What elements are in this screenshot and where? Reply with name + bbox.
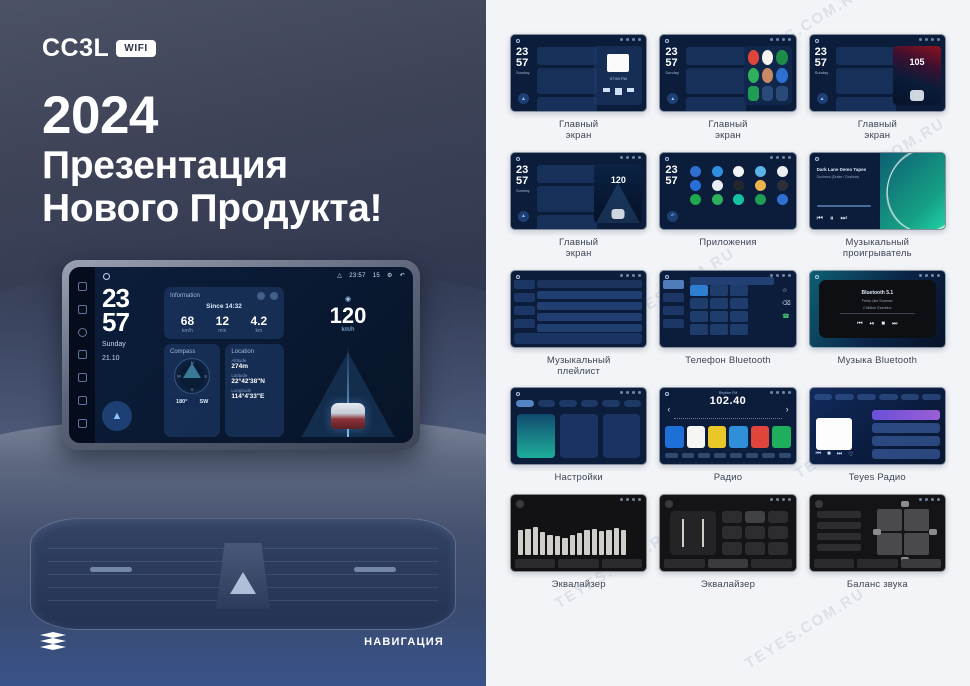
thumbnail-equalizer-fader[interactable] xyxy=(659,494,796,572)
stop-icon[interactable]: ■ xyxy=(827,451,831,458)
bt-track-title: Feels Like Summer xyxy=(862,299,893,303)
since-label: Since 14:32 xyxy=(170,303,278,310)
clock-column: 23 57 Sunday 21.10 ▲ xyxy=(102,287,158,437)
gallery-item[interactable]: 23 57 Sunday ▲ 07:50 FM xyxy=(510,34,647,142)
thumbnail-home-drive[interactable]: 23 57 Sunday ▲ 105 xyxy=(809,34,946,112)
balance-preset-right[interactable] xyxy=(817,544,861,551)
speed-unit: km/h xyxy=(341,327,354,333)
hazard-triangle-icon xyxy=(230,572,256,594)
tune-up-icon[interactable]: › xyxy=(786,404,789,414)
compass-readout: 180° SW xyxy=(170,397,214,407)
station-presets[interactable] xyxy=(665,426,790,448)
tab-all[interactable] xyxy=(814,394,833,400)
app-icon-gps[interactable] xyxy=(690,166,701,177)
gallery-caption: Эквалайзер xyxy=(552,579,606,590)
stat-speed: 68 km/h xyxy=(181,314,194,334)
compass-direction: SW xyxy=(199,399,208,405)
sidebar-item-search[interactable] xyxy=(663,306,684,315)
gallery-item[interactable]: Эквалайзер xyxy=(510,494,647,590)
dial-key-9[interactable] xyxy=(730,311,748,322)
mini-clock-min: 57 xyxy=(665,177,677,187)
sidebar-item-history[interactable] xyxy=(663,319,684,328)
list-item[interactable] xyxy=(872,423,940,433)
thumbnail-apps[interactable]: 23 57 ↶ xyxy=(659,152,796,230)
phone-sidebar[interactable] xyxy=(663,280,684,332)
mini-clock-min: 57 xyxy=(516,59,528,69)
preset-4[interactable] xyxy=(729,426,747,448)
location-card[interactable]: Location Altitude 274m Latitude 22°42'38… xyxy=(225,344,284,437)
next-icon[interactable]: ⏭ xyxy=(840,215,846,223)
bt-progress-bar[interactable] xyxy=(840,313,915,314)
info-column: Information Since 14:32 68 km/h xyxy=(164,287,284,437)
information-title: Information xyxy=(170,293,200,299)
tab-balance[interactable] xyxy=(602,559,642,568)
information-card[interactable]: Information Since 14:32 68 km/h xyxy=(164,287,284,339)
previous-icon[interactable]: ⏮ xyxy=(816,451,821,458)
home-indicator-icon xyxy=(665,275,669,279)
track-list[interactable] xyxy=(537,280,642,331)
app-icon-chrome[interactable] xyxy=(690,180,701,191)
preset-pad[interactable] xyxy=(768,511,788,524)
gallery-grid: 23 57 Sunday ▲ 07:50 FM xyxy=(510,34,946,590)
stat-distance-value: 4.2 xyxy=(251,314,268,328)
balance-preset-left[interactable] xyxy=(817,533,861,540)
trip-stats: 68 km/h 12 min 4.2 xyxy=(170,314,278,334)
balance-up-button[interactable] xyxy=(901,501,909,507)
next-icon[interactable]: ⏭ xyxy=(892,321,897,328)
car-figure-icon xyxy=(331,403,365,429)
gallery-caption: Приложения xyxy=(699,237,757,248)
settings-card-more[interactable] xyxy=(603,414,641,458)
mini-media-panel: 07:50 FM xyxy=(594,46,642,105)
app-icon-contact[interactable] xyxy=(712,180,723,191)
station-list[interactable] xyxy=(872,410,940,462)
mini-nav-button[interactable]: ▲ xyxy=(817,93,828,104)
mini-drive-speed: 105 xyxy=(893,57,941,67)
equalizer-tabs[interactable] xyxy=(814,559,941,568)
speed-icon: ◉ xyxy=(345,295,351,303)
balance-preset-rear[interactable] xyxy=(817,522,861,529)
preset-pad[interactable] xyxy=(768,526,788,539)
gallery-caption: Главныйэкран xyxy=(559,119,598,142)
status-time: 23:57 xyxy=(349,273,366,279)
toolbar-settings[interactable] xyxy=(779,453,791,458)
phone-number-field[interactable] xyxy=(690,277,773,285)
app-icon-file-manager[interactable] xyxy=(755,180,766,191)
sidebar-item-contacts[interactable] xyxy=(663,293,684,302)
mini-clock-min: 57 xyxy=(516,177,528,187)
list-item[interactable] xyxy=(537,324,642,332)
tab-fader[interactable] xyxy=(857,559,897,568)
home-indicator-icon xyxy=(665,157,669,161)
progress-bar[interactable] xyxy=(817,205,871,207)
gallery-caption: Эквалайзер xyxy=(701,579,755,590)
gallery-item[interactable]: Dark Lane Demo Tapes Duchess (Drake / Dr… xyxy=(809,152,946,260)
tab-genre[interactable] xyxy=(857,394,876,400)
tab-search[interactable] xyxy=(922,394,941,400)
latitude-row: Latitude 22°42'38"N xyxy=(231,373,278,385)
tab-eq[interactable] xyxy=(664,559,704,568)
stat-speed-value: 68 xyxy=(181,314,194,328)
hazard-button[interactable] xyxy=(216,543,270,609)
stat-time-unit: min xyxy=(216,328,229,334)
rail-icon-power[interactable] xyxy=(78,328,87,337)
mini-nav-button[interactable]: ▲ xyxy=(667,93,678,104)
toolbar-eq[interactable] xyxy=(714,453,726,458)
gallery-item[interactable]: ⏮ ■ ⏭ ♡ Teyes Радио xyxy=(809,387,946,483)
next-icon[interactable]: ⏭ xyxy=(837,451,842,458)
backspace-icon[interactable]: ⌫ xyxy=(782,300,790,307)
preset-pad[interactable] xyxy=(745,526,765,539)
thumbnail-bluetooth-music[interactable]: Bluetooth 5.1 Feels Like Summer Childish… xyxy=(809,270,946,348)
mini-player-bar[interactable] xyxy=(514,333,642,344)
gallery-item[interactable]: 23 57 Sunday ▲ 105 Главныйэкран xyxy=(809,34,946,142)
list-item[interactable] xyxy=(537,280,642,288)
gear-icon[interactable]: ⚙ xyxy=(387,272,393,279)
tab-eq[interactable] xyxy=(814,559,854,568)
music-visualizer xyxy=(880,153,945,229)
thumbnail-sound-balance[interactable] xyxy=(809,494,946,572)
settings-card-wlan[interactable] xyxy=(517,414,555,458)
toolbar-loc[interactable] xyxy=(746,453,758,458)
dial-key-2[interactable] xyxy=(710,285,728,296)
tab-sound[interactable] xyxy=(538,400,556,407)
bluetooth-version: Bluetooth 5.1 xyxy=(861,290,893,296)
sidebar-item-folders[interactable] xyxy=(514,319,535,328)
preset-pad-grid[interactable] xyxy=(722,511,788,555)
compass-s: S xyxy=(191,387,194,392)
longitude-value: 114°4'33"E xyxy=(231,393,278,400)
preset-pad[interactable] xyxy=(745,542,765,555)
clock-minutes: 57 xyxy=(102,311,158,335)
expand-icon[interactable] xyxy=(270,292,278,300)
home-indicator-icon xyxy=(516,392,520,396)
speaker-rear-left[interactable] xyxy=(877,533,902,555)
preset-1[interactable] xyxy=(665,426,683,448)
gallery-caption: Главныйэкран xyxy=(858,119,897,142)
home-indicator-icon[interactable] xyxy=(103,273,110,280)
toolbar-af[interactable] xyxy=(762,453,774,458)
title-line-1: Презентация xyxy=(42,144,382,188)
dial-key-star[interactable] xyxy=(690,324,708,335)
mini-back-button[interactable]: ↶ xyxy=(667,211,678,222)
preset-pad[interactable] xyxy=(722,542,742,555)
call-icon[interactable]: ☎ xyxy=(782,313,790,320)
app-icon-bluetooth[interactable] xyxy=(712,166,723,177)
rail-icon-volume-down[interactable] xyxy=(78,396,87,405)
tab-history[interactable] xyxy=(901,394,920,400)
list-item[interactable] xyxy=(872,410,940,420)
list-item[interactable] xyxy=(537,313,642,321)
radio-frequency: 102.40 xyxy=(660,395,795,407)
compass-e: E xyxy=(205,374,208,379)
longitude-row: Longitude 114°4'33"E xyxy=(231,388,278,400)
balance-preset-icon[interactable] xyxy=(815,500,823,508)
home-indicator-icon xyxy=(516,275,520,279)
balance-preset-front[interactable] xyxy=(817,511,861,518)
gallery-caption: Teyes Радио xyxy=(849,472,906,483)
app-icon-dvr[interactable] xyxy=(733,180,744,191)
preset-5[interactable] xyxy=(751,426,769,448)
title-year: 2024 xyxy=(42,88,382,144)
preset-pad[interactable] xyxy=(768,542,788,555)
screen-content: △ 23:57 15 ⚙ ↶ 23 57 Sunday 21.10 xyxy=(95,267,413,443)
gallery-item[interactable]: 23 57 Sunday ▲ xyxy=(659,34,796,142)
altitude-value: 274m xyxy=(231,363,278,370)
app-icon-radio[interactable] xyxy=(777,194,788,205)
mini-app-drawer xyxy=(744,46,792,105)
screenshot-gallery: TEYES.COM.RU TEYES.COM.RU TEYES.COM.RU T… xyxy=(486,0,970,686)
tab-personal[interactable] xyxy=(602,400,620,407)
rail-icon-back[interactable] xyxy=(78,373,87,382)
dial-key-5[interactable] xyxy=(710,298,728,309)
app-icon-gallery[interactable] xyxy=(777,180,788,191)
navigation-label: НАВИГАЦИЯ xyxy=(364,636,444,648)
thumbnail-settings[interactable] xyxy=(510,387,647,465)
clock-day: Sunday xyxy=(102,340,158,349)
playlist-sidebar[interactable] xyxy=(514,280,535,332)
thumbnail-home-speed[interactable]: 23 57 Sunday ▲ 120 xyxy=(510,152,647,230)
tab-common[interactable] xyxy=(559,400,577,407)
home-indicator-icon xyxy=(815,275,819,279)
rail-icon-prev[interactable] xyxy=(78,282,87,291)
teyes-transport[interactable]: ⏮ ■ ⏭ ♡ xyxy=(816,451,854,458)
preset-6[interactable] xyxy=(772,426,790,448)
gallery-item[interactable]: Эквалайзер xyxy=(659,494,796,590)
location-title: Location xyxy=(231,349,254,355)
hero-panel: CC3L WIFI 2024 Презентация Нового Продук… xyxy=(0,0,486,686)
speaker-front-left[interactable] xyxy=(877,509,902,531)
stat-time: 12 min xyxy=(216,314,229,334)
dial-key-hash[interactable] xyxy=(730,324,748,335)
equalizer-tabs[interactable] xyxy=(664,559,791,568)
app-icon-google[interactable] xyxy=(690,194,701,205)
dial-key-1[interactable] xyxy=(690,285,708,296)
favorite-icon[interactable]: ☆ xyxy=(782,287,790,294)
settings-tabs[interactable] xyxy=(516,400,641,407)
rail-icon-next[interactable] xyxy=(78,305,87,314)
transport-controls[interactable]: ⏮ ⏸ ⏭ xyxy=(817,215,847,223)
list-item[interactable] xyxy=(872,449,940,459)
gallery-caption: Музыка Bluetooth xyxy=(838,355,918,366)
preset-2[interactable] xyxy=(687,426,705,448)
tab-country[interactable] xyxy=(879,394,898,400)
mini-speed-panel: 120 xyxy=(594,164,642,223)
bluetooth-card: Bluetooth 5.1 Feels Like Summer Childish… xyxy=(819,280,936,338)
thumbnail-music-player[interactable]: Dark Lane Demo Tapes Duchess (Drake / Dr… xyxy=(809,152,946,230)
watermark: TEYES.COM.RU xyxy=(742,585,868,673)
home-indicator-icon xyxy=(665,39,669,43)
equalizer-tabs[interactable] xyxy=(515,559,642,568)
tab-fader[interactable] xyxy=(708,559,748,568)
compass-n: N xyxy=(191,360,194,365)
list-item[interactable] xyxy=(872,436,940,446)
eq-preset-icon[interactable] xyxy=(516,500,524,508)
thumbnail-equalizer-bars[interactable] xyxy=(510,494,647,572)
speed-value: 120 xyxy=(330,305,367,327)
app-icon-bluetooth-music[interactable] xyxy=(733,166,744,177)
compass-degrees: 180° xyxy=(176,399,187,405)
dial-key-6[interactable] xyxy=(730,298,748,309)
screen-side-rail[interactable] xyxy=(69,267,95,443)
gallery-item[interactable]: Баланс звука xyxy=(809,494,946,590)
dial-key-3[interactable] xyxy=(730,285,748,296)
stop-icon[interactable]: ■ xyxy=(881,321,885,328)
wifi-badge: WIFI xyxy=(116,40,156,57)
tab-balance[interactable] xyxy=(751,559,791,568)
thumbnail-teyes-radio[interactable]: ⏮ ■ ⏭ ♡ xyxy=(809,387,946,465)
balance-left-button[interactable] xyxy=(873,529,881,535)
tab-wlan[interactable] xyxy=(516,400,534,407)
head-unit-screen[interactable]: △ 23:57 15 ⚙ ↶ 23 57 Sunday 21.10 xyxy=(69,267,413,443)
preset-pad[interactable] xyxy=(722,526,742,539)
eq-preset-icon[interactable] xyxy=(665,500,673,508)
speaker-rear-right[interactable] xyxy=(904,533,929,555)
mini-day: Sunday xyxy=(665,70,679,75)
app-icon-play-store[interactable] xyxy=(755,194,766,205)
mini-nav-button[interactable]: ▲ xyxy=(518,93,529,104)
sidebar-item-artists[interactable] xyxy=(514,293,535,302)
now-playing-title: Dark Lane Demo Tapes xyxy=(817,167,866,172)
mini-nav-button[interactable]: ▲ xyxy=(518,211,529,222)
latitude-value: 22°42'38"N xyxy=(231,378,278,385)
thumbnail-playlist[interactable] xyxy=(510,270,647,348)
station-artwork xyxy=(816,418,852,450)
fader-sliders[interactable] xyxy=(670,511,716,555)
status-bar: △ 23:57 15 ⚙ ↶ xyxy=(337,272,405,279)
compass-card[interactable]: Compass N S E W xyxy=(164,344,220,437)
list-item[interactable] xyxy=(537,291,642,299)
gallery-caption: Радио xyxy=(714,472,742,483)
frequency-scale[interactable] xyxy=(674,418,781,422)
app-icon-maps[interactable] xyxy=(712,194,723,205)
rail-icon-home[interactable] xyxy=(78,350,87,359)
thumbnail-home-media[interactable]: 23 57 Sunday ▲ 07:50 FM xyxy=(510,34,647,112)
stat-distance: 4.2 km xyxy=(251,314,268,334)
gallery-item[interactable]: 23 57 Sunday ▲ 120 Главныйэкран xyxy=(510,152,647,260)
previous-icon[interactable]: ⏮ xyxy=(857,321,862,328)
bt-transport-controls[interactable]: ⏮ ⏯ ■ ⏭ xyxy=(857,321,897,328)
preset-pad[interactable] xyxy=(745,511,765,524)
gallery-caption: Главныйэкран xyxy=(559,237,598,260)
gallery-item[interactable]: Bluetooth 5.1 Feels Like Summer Childish… xyxy=(809,270,946,378)
stat-distance-unit: km xyxy=(251,328,268,334)
speaker-front-right[interactable] xyxy=(904,509,929,531)
logo-wordmark: CC3L xyxy=(42,34,109,63)
now-playing-artist: Duchess (Drake / Drakkar) xyxy=(817,175,860,179)
tab-favorites[interactable] xyxy=(835,394,854,400)
app-icon-calculator[interactable] xyxy=(755,166,766,177)
toolbar-rds[interactable] xyxy=(730,453,742,458)
app-icon-camera[interactable] xyxy=(777,166,788,177)
home-indicator-icon xyxy=(815,157,819,161)
list-item[interactable] xyxy=(537,302,642,310)
gallery-caption: Главныйэкран xyxy=(708,119,747,142)
mini-clock-min: 57 xyxy=(815,59,827,69)
bt-track-artist: Childish Gambino xyxy=(863,306,891,310)
compass-needle xyxy=(183,363,201,378)
previous-icon[interactable]: ⏮ xyxy=(817,215,823,223)
rail-icon-volume-up[interactable] xyxy=(78,419,87,428)
vent-control-right xyxy=(354,567,396,572)
thumbnail-radio[interactable]: Rhythm FM 102.40 ‹ › xyxy=(659,387,796,465)
tab-balance[interactable] xyxy=(901,559,941,568)
toolbar-search[interactable] xyxy=(682,453,694,458)
refresh-icon[interactable] xyxy=(257,292,265,300)
gallery-item[interactable]: ☆ ⌫ ☎ Телефон Bluetooth xyxy=(659,270,796,378)
product-logo: CC3L WIFI xyxy=(42,34,156,63)
play-pause-icon[interactable]: ⏯ xyxy=(870,321,875,328)
back-icon[interactable]: ↶ xyxy=(400,272,405,279)
mini-clock-min: 57 xyxy=(665,59,677,69)
sidebar-item-albums[interactable] xyxy=(514,306,535,315)
layers-icon xyxy=(40,632,66,652)
favorite-icon[interactable]: ♡ xyxy=(848,451,853,458)
radio-toolbar[interactable] xyxy=(665,453,790,461)
app-icon-music-player[interactable] xyxy=(733,194,744,205)
gallery-item[interactable]: 23 57 ↶ xyxy=(659,152,796,260)
head-unit-bezel: △ 23:57 15 ⚙ ↶ 23 57 Sunday 21.10 xyxy=(62,260,420,450)
toolbar-list[interactable] xyxy=(698,453,710,458)
dial-key-4[interactable] xyxy=(690,298,708,309)
tab-fader[interactable] xyxy=(558,559,598,568)
gallery-item[interactable]: Rhythm FM 102.40 ‹ › xyxy=(659,387,796,483)
vent-control-left xyxy=(90,567,132,572)
teyes-tabs[interactable] xyxy=(814,394,941,400)
tab-system[interactable] xyxy=(624,400,642,407)
title-line-2: Нового Продукта! xyxy=(42,187,382,231)
stat-speed-unit: km/h xyxy=(181,328,194,334)
balance-presets[interactable] xyxy=(817,511,861,555)
dial-key-0[interactable] xyxy=(710,324,728,335)
mini-day: Sunday xyxy=(516,188,530,193)
tune-down-icon[interactable]: ‹ xyxy=(667,404,670,414)
gallery-caption: Баланс звука xyxy=(847,579,908,590)
dial-key-7[interactable] xyxy=(690,311,708,322)
gallery-item[interactable]: Музыкальныйплейлист xyxy=(510,270,647,378)
tab-eq[interactable] xyxy=(515,559,555,568)
sidebar-item-dialpad[interactable] xyxy=(663,280,684,289)
thumbnail-home-apps[interactable]: 23 57 Sunday ▲ xyxy=(659,34,796,112)
mini-day: Sunday xyxy=(516,70,530,75)
settings-cards[interactable] xyxy=(517,414,640,458)
compass-title: Compass xyxy=(170,349,195,355)
gallery-item[interactable]: Настройки xyxy=(510,387,647,483)
dial-key-8[interactable] xyxy=(710,311,728,322)
preset-pad[interactable] xyxy=(722,511,742,524)
balance-pad[interactable] xyxy=(877,509,929,555)
app-icon-grid[interactable] xyxy=(686,164,791,224)
pause-icon[interactable]: ⏸ xyxy=(830,215,834,223)
balance-right-button[interactable] xyxy=(929,529,937,535)
thumbnail-bluetooth-phone[interactable]: ☆ ⌫ ☎ xyxy=(659,270,796,348)
drive-view-widget[interactable]: ◉ 120 km/h xyxy=(290,287,406,437)
navigation-button[interactable]: ▲ xyxy=(102,401,132,431)
gallery-caption: Настройки xyxy=(554,472,602,483)
toolbar-band[interactable] xyxy=(665,453,677,458)
home-indicator-icon xyxy=(516,157,520,161)
equalizer-sliders[interactable] xyxy=(518,513,626,555)
tab-display[interactable] xyxy=(581,400,599,407)
sidebar-item-tracks[interactable] xyxy=(514,280,535,289)
preset-3[interactable] xyxy=(708,426,726,448)
clock-date: 21.10 xyxy=(102,354,158,363)
presentation-slide: CC3L WIFI 2024 Презентация Нового Продук… xyxy=(0,0,970,686)
dialpad[interactable] xyxy=(690,285,748,335)
settings-card-traffic[interactable] xyxy=(560,414,598,458)
mini-day: Sunday xyxy=(815,70,829,75)
altitude-row: Altitude 274m xyxy=(231,358,278,370)
